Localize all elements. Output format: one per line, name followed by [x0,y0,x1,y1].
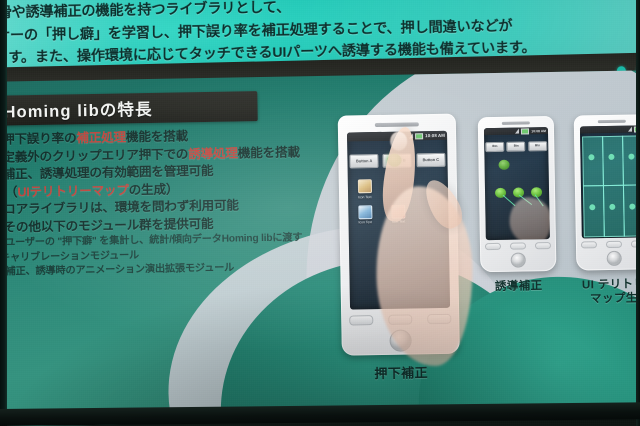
app-slot-empty-2 [414,178,448,198]
app-slot-empty-1 [381,178,415,198]
bullet-2-after: 機能を搭載 [238,145,300,160]
app-icon-2-label: Icon Text [358,220,372,224]
phone-nav-key-row [480,242,556,250]
app-icon-3[interactable]: Icon Text [382,204,416,224]
guide-target-source [498,160,509,170]
app-icon-1[interactable]: Icon Text [348,179,382,199]
app-slot-empty-3 [415,203,449,223]
button-c[interactable]: Btn [528,141,547,151]
earpiece-speaker [375,122,419,127]
app-icon-3-label: Icon Text [392,220,406,224]
territory-node-2 [608,154,614,160]
earpiece-speaker [502,121,530,124]
phone-home-button[interactable] [389,329,411,351]
status-bar-clock: 10:08 AM [425,133,445,138]
sub-item-3-text: 補正、誘導時のアニメーション演出拡張モジュール [5,263,234,278]
territory-node-3 [628,154,634,160]
ui-territory-map-overlay [580,125,640,238]
button-c[interactable]: Button C [416,152,445,167]
projected-slide-photo: 滑や誘導補正の機能を持つライブラリとして、 サーの「押し癖」を学習し、押下誤り率… [0,0,640,426]
main-slide: Homing libの特長 押下誤り率の補正処理機能を搭載 定義外のクリップエリ… [0,70,640,426]
app-icon-2[interactable]: Icon Text [348,204,382,224]
nav-key-back[interactable] [485,243,501,250]
android-status-bar: 10:08 AM [347,131,447,142]
bullet-1-before: 押下誤り率の [2,131,77,146]
bullet-2-before: 定義外のクリップエリア押下での [2,147,188,164]
bullet-3-before: 補正、誘導処理の有効範囲を管理可能 [3,164,214,182]
signal-icon [515,129,519,134]
phone-home-button[interactable] [511,252,526,267]
app-icon-image [391,204,405,218]
ui-button-row: Btn Btn Btn [484,141,548,151]
sub-item-1-text: ユーザーの "押下癖" を集計し、統計/傾向データHoming libに渡す [5,232,302,248]
button-b[interactable]: Btn [507,141,526,151]
nav-key-menu[interactable] [388,314,412,324]
nav-key-menu[interactable] [510,242,526,249]
caption-ui-territory-line2: マップ生 [569,289,640,307]
signal-icon [409,133,413,138]
button-a[interactable]: Button A [350,153,379,168]
phone-mockup-oshika-hosei: 10:08 AM Button A Button B Button C Icon… [338,114,460,356]
bullet-2-highlight: 誘導処理 [188,146,238,161]
phone-home-button[interactable] [607,251,622,266]
territory-cell-5 [603,185,625,237]
slide-title-bar: Homing libの特長 [0,91,258,126]
photo-frame-right [636,0,640,426]
battery-icon [415,133,423,139]
territory-cell-1 [582,136,604,186]
nav-key-back[interactable] [581,241,597,248]
territory-node-6 [629,204,635,210]
bullet-item-1-text: 押下誤り率の補正処理機能を搭載 [2,128,188,148]
caption-oshika-hosei: 押下補正 [342,362,460,383]
battery-icon [521,128,529,134]
phone-mockup-ui-territory-map [574,114,640,270]
hand-silhouette [509,197,550,240]
photo-frame-left [0,0,7,426]
bullet-1-after: 機能を搭載 [126,129,188,144]
phone-screen: 10:08 AM Button A Button B Button C Icon… [347,131,450,310]
sub-item-2-text: キャリブレーションモジュール [0,250,139,263]
home-screen-app-grid: Icon Text Icon Text Icon Text [348,178,449,231]
nav-key-back[interactable] [349,315,373,325]
bullet-3-continuation-text: （UIテリトリーマップの生成） [5,181,179,201]
phone-mockup-yuudou-hosei: 10:08 AM Btn Btn Btn [478,116,557,272]
status-bar-clock: 10:08 AM [531,129,546,133]
territory-cell-4 [583,185,605,237]
territory-node-1 [588,154,594,160]
bullet-3-continuation-highlight: UIテリトリーマップ [17,183,129,199]
page-title: Homing libの特長 [0,96,153,123]
button-a[interactable]: Btn [485,141,504,151]
phone-nav-key-row [341,314,459,326]
app-icon-image [357,179,371,193]
earpiece-speaker [598,120,626,123]
caption-yuudou-hosei: 誘導補正 [481,277,557,294]
phone-screen: 10:08 AM Btn Btn Btn [484,127,550,240]
bullet-1-highlight: 補正処理 [76,130,126,145]
territory-node-4 [589,204,595,210]
phone-screen [580,125,640,238]
nav-key-menu[interactable] [606,241,622,248]
app-icon-image [358,205,372,219]
feature-bullet-list: 押下誤り率の補正処理機能を搭載 定義外のクリップエリア押下での誘導処理機能を搭載… [0,126,340,281]
nav-key-search[interactable] [535,242,551,249]
android-status-bar: 10:08 AM [484,127,548,135]
app-icon-1-label: Icon Text [358,195,372,199]
nav-key-search[interactable] [427,314,451,324]
phone-nav-key-row [576,240,640,248]
territory-cell-2 [602,136,624,186]
